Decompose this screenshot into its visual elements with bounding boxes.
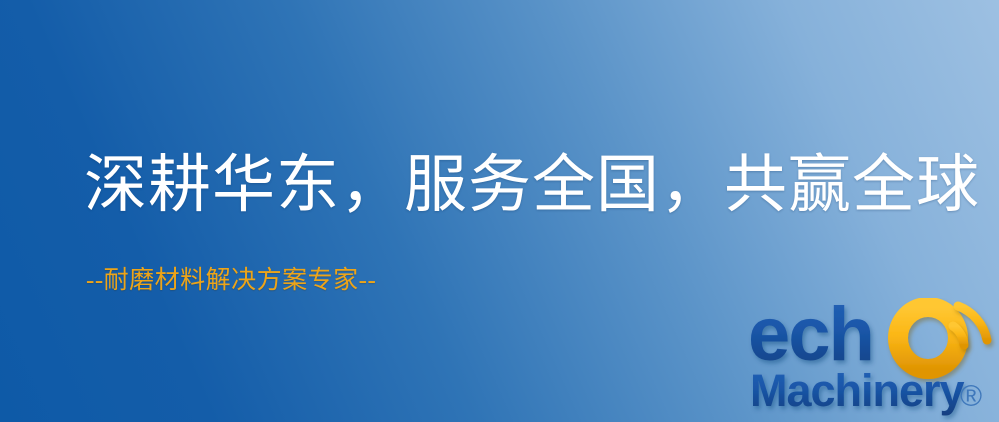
hero-banner: 深耕华东，服务全国，共赢全球 --耐磨材料解决方案专家-- (0, 0, 999, 422)
logo-text-machinery: Machinery (750, 365, 965, 416)
logo-o-ring-icon (898, 307, 958, 369)
banner-subtitle: --耐磨材料解决方案专家-- (86, 266, 376, 296)
page-title: 深耕华东，服务全国，共赢全球 (84, 150, 980, 221)
registered-trademark-icon: ® (960, 380, 982, 413)
echo-machinery-logo: ech Machinery ® (748, 298, 999, 422)
